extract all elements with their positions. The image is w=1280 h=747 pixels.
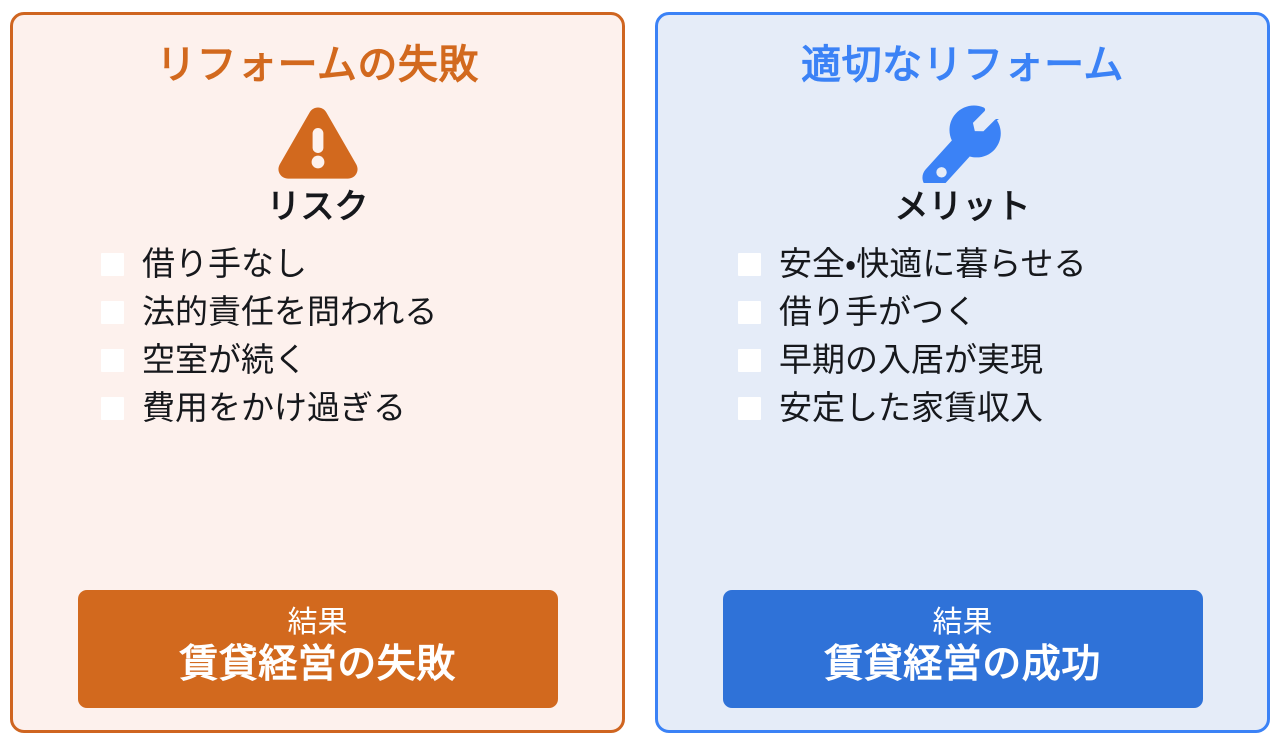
checkbox-icon[interactable] — [738, 349, 761, 372]
list-item-label: 費用をかけ過ぎる — [142, 391, 406, 426]
list-item[interactable]: 法的責任を問われる — [101, 288, 437, 336]
checkbox-icon[interactable] — [101, 349, 124, 372]
list-item-label: 空室が続く — [142, 343, 307, 378]
wrench-icon — [921, 99, 1005, 185]
section-heading-merit: メリット — [895, 189, 1031, 226]
checkbox-icon[interactable] — [738, 397, 761, 420]
result-value: 賃貸経営の失敗 — [78, 641, 558, 690]
result-box-success: 結果 賃貸経営の成功 — [723, 590, 1203, 708]
card-title-failure: リフォームの失敗 — [156, 43, 479, 87]
section-heading-risk: リスク — [267, 189, 369, 226]
checkbox-icon[interactable] — [101, 397, 124, 420]
list-item[interactable]: 借り手なし — [101, 240, 307, 288]
result-box-failure: 結果 賃貸経営の失敗 — [78, 590, 558, 708]
list-item[interactable]: 安全・快適に暮らせる — [738, 240, 1087, 288]
card-reform-success: 適切なリフォーム メリット 安全・快適に暮らせる 借り手がつく 早期の入居が — [655, 12, 1270, 733]
result-value: 賃貸経営の成功 — [723, 641, 1203, 690]
comparison-board: リフォームの失敗 リスク 借り手なし 法的責任を問われる 空室が続く — [0, 0, 1280, 747]
result-label: 結果 — [78, 604, 558, 642]
checkbox-icon[interactable] — [101, 301, 124, 324]
merit-list: 安全・快適に暮らせる 借り手がつく 早期の入居が実現 安定した家賃収入 — [678, 240, 1247, 432]
list-item[interactable]: 安定した家賃収入 — [738, 384, 1043, 432]
list-item[interactable]: 空室が続く — [101, 336, 307, 384]
checkbox-icon[interactable] — [738, 301, 761, 324]
result-label: 結果 — [723, 604, 1203, 642]
list-item-label: 法的責任を問われる — [142, 295, 437, 330]
list-item-label: 安定した家賃収入 — [779, 391, 1043, 426]
list-item-label: 借り手なし — [142, 247, 307, 282]
card-reform-failure: リフォームの失敗 リスク 借り手なし 法的責任を問われる 空室が続く — [10, 12, 625, 733]
card-title-success: 適切なリフォーム — [801, 43, 1124, 87]
list-item-label: 早期の入居が実現 — [779, 343, 1043, 378]
warning-triangle-icon — [276, 99, 360, 185]
list-item[interactable]: 借り手がつく — [738, 288, 977, 336]
checkbox-icon[interactable] — [101, 253, 124, 276]
list-item[interactable]: 費用をかけ過ぎる — [101, 384, 406, 432]
list-item[interactable]: 早期の入居が実現 — [738, 336, 1043, 384]
list-item-label: 借り手がつく — [779, 295, 977, 330]
risk-list: 借り手なし 法的責任を問われる 空室が続く 費用をかけ過ぎる — [33, 240, 602, 432]
list-item-label: 安全・快適に暮らせる — [779, 247, 1087, 282]
checkbox-icon[interactable] — [738, 253, 761, 276]
